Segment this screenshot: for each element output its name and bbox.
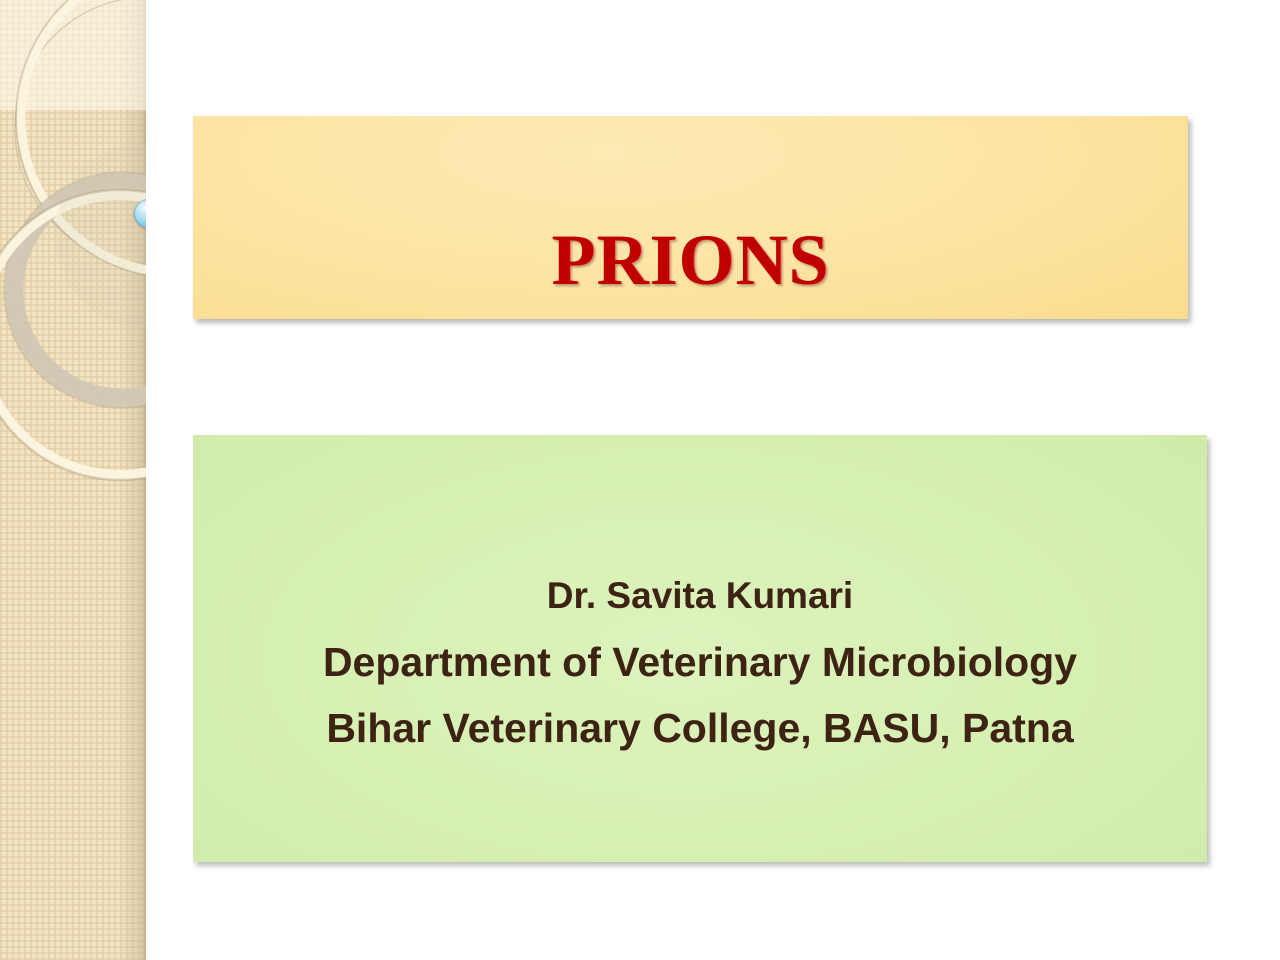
department-name: Department of Veterinary Microbiology <box>193 629 1207 695</box>
slide-canvas: PRIONS Dr. Savita Kumari Department of V… <box>0 0 1280 960</box>
author-name: Dr. Savita Kumari <box>193 563 1207 629</box>
slide-title: PRIONS <box>193 224 1188 296</box>
institution-name: Bihar Veterinary College, BASU, Patna <box>193 695 1207 761</box>
decorative-sidebar <box>0 0 146 960</box>
subtitle-text-block: Dr. Savita Kumari Department of Veterina… <box>193 563 1207 761</box>
subtitle-box: Dr. Savita Kumari Department of Veterina… <box>193 435 1207 862</box>
sidebar-decoration-svg <box>0 0 146 960</box>
title-box: PRIONS <box>193 116 1188 319</box>
faint-grey-disc <box>55 140 146 330</box>
